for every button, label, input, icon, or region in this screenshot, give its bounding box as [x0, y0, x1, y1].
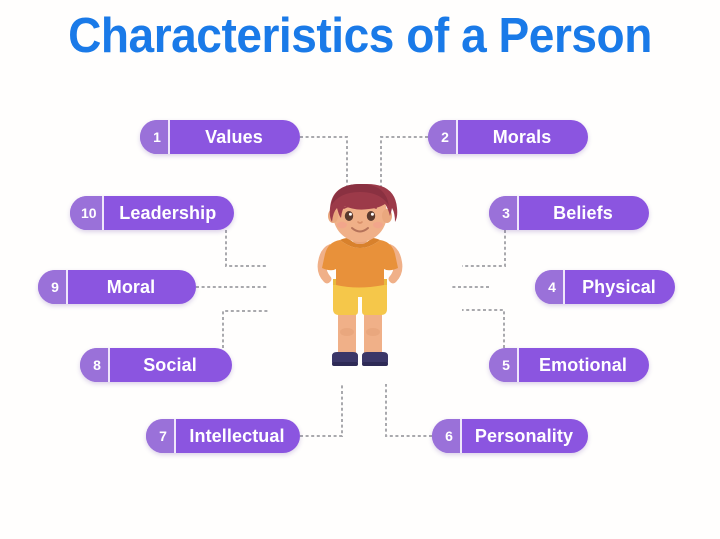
item-number: 4 [535, 270, 563, 304]
item-label: Emotional [519, 348, 649, 382]
connector-3 [462, 230, 505, 266]
item-pill-social[interactable]: 8 Social [80, 348, 232, 382]
item-pill-morals[interactable]: 2 Morals [428, 120, 588, 154]
item-number: 10 [70, 196, 102, 230]
item-number: 8 [80, 348, 108, 382]
item-number: 1 [140, 120, 168, 154]
eye-right [367, 211, 375, 221]
item-number: 2 [428, 120, 456, 154]
item-label: Values [170, 120, 300, 154]
item-pill-values[interactable]: 1 Values [140, 120, 300, 154]
item-label: Personality [462, 419, 588, 453]
connector-6 [386, 384, 432, 436]
infographic-canvas: Characteristics of a Person [0, 0, 720, 539]
item-label: Morals [458, 120, 588, 154]
connector-7 [300, 384, 342, 436]
connector-8 [223, 311, 268, 348]
item-pill-emotional[interactable]: 5 Emotional [489, 348, 649, 382]
boy-character-illustration [300, 182, 420, 390]
item-label: Physical [565, 270, 675, 304]
item-number: 3 [489, 196, 517, 230]
item-number: 5 [489, 348, 517, 382]
eye-left [345, 211, 353, 221]
item-pill-physical[interactable]: 4 Physical [535, 270, 675, 304]
item-label: Leadership [104, 196, 234, 230]
item-number: 9 [38, 270, 66, 304]
item-pill-moral[interactable]: 9 Moral [38, 270, 196, 304]
item-label: Social [110, 348, 232, 382]
connector-10 [226, 230, 268, 266]
connector-5 [462, 310, 504, 348]
item-number: 6 [432, 419, 460, 453]
item-label: Beliefs [519, 196, 649, 230]
item-pill-personality[interactable]: 6 Personality [432, 419, 588, 453]
item-label: Moral [68, 270, 196, 304]
item-pill-leadership[interactable]: 10 Leadership [70, 196, 234, 230]
item-pill-intellectual[interactable]: 7 Intellectual [146, 419, 300, 453]
item-label: Intellectual [176, 419, 300, 453]
item-pill-beliefs[interactable]: 3 Beliefs [489, 196, 649, 230]
item-number: 7 [146, 419, 174, 453]
